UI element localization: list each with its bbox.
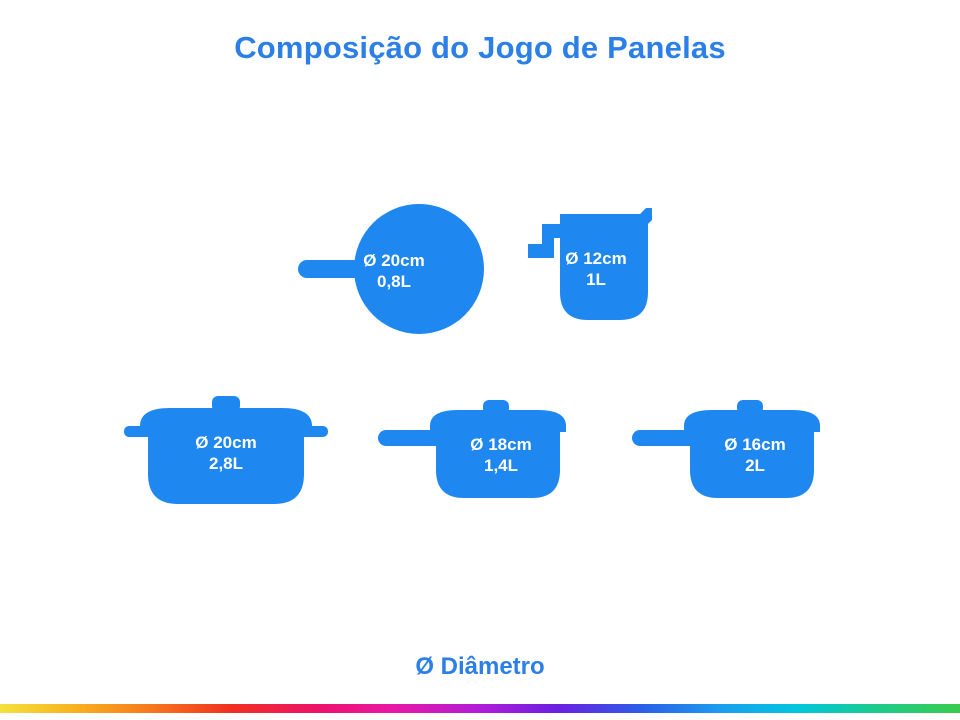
cookware-item-milk-pan[interactable] (528, 200, 664, 330)
cookware-item-saucepan-18[interactable] (378, 400, 584, 502)
saucepan-icon (632, 400, 838, 502)
stockpot-icon (124, 396, 328, 508)
diameter-legend: Ø Diâmetro (0, 653, 960, 681)
saucepan-icon (378, 400, 584, 502)
cookware-item-saucepan-16[interactable] (632, 400, 838, 502)
cookware-item-stockpot[interactable] (124, 396, 328, 508)
cookware-item-frying-pan[interactable] (294, 200, 494, 340)
cookware-items-layer: Ø 20cm 0,8L Ø 12cm 1L Ø 20cm 2,8L Ø 18cm… (0, 0, 960, 720)
infographic-slide: Composição do Jogo de Panelas (0, 0, 960, 720)
rainbow-divider (0, 704, 960, 713)
frying-pan-icon (294, 200, 494, 340)
milk-pan-icon (528, 200, 664, 330)
